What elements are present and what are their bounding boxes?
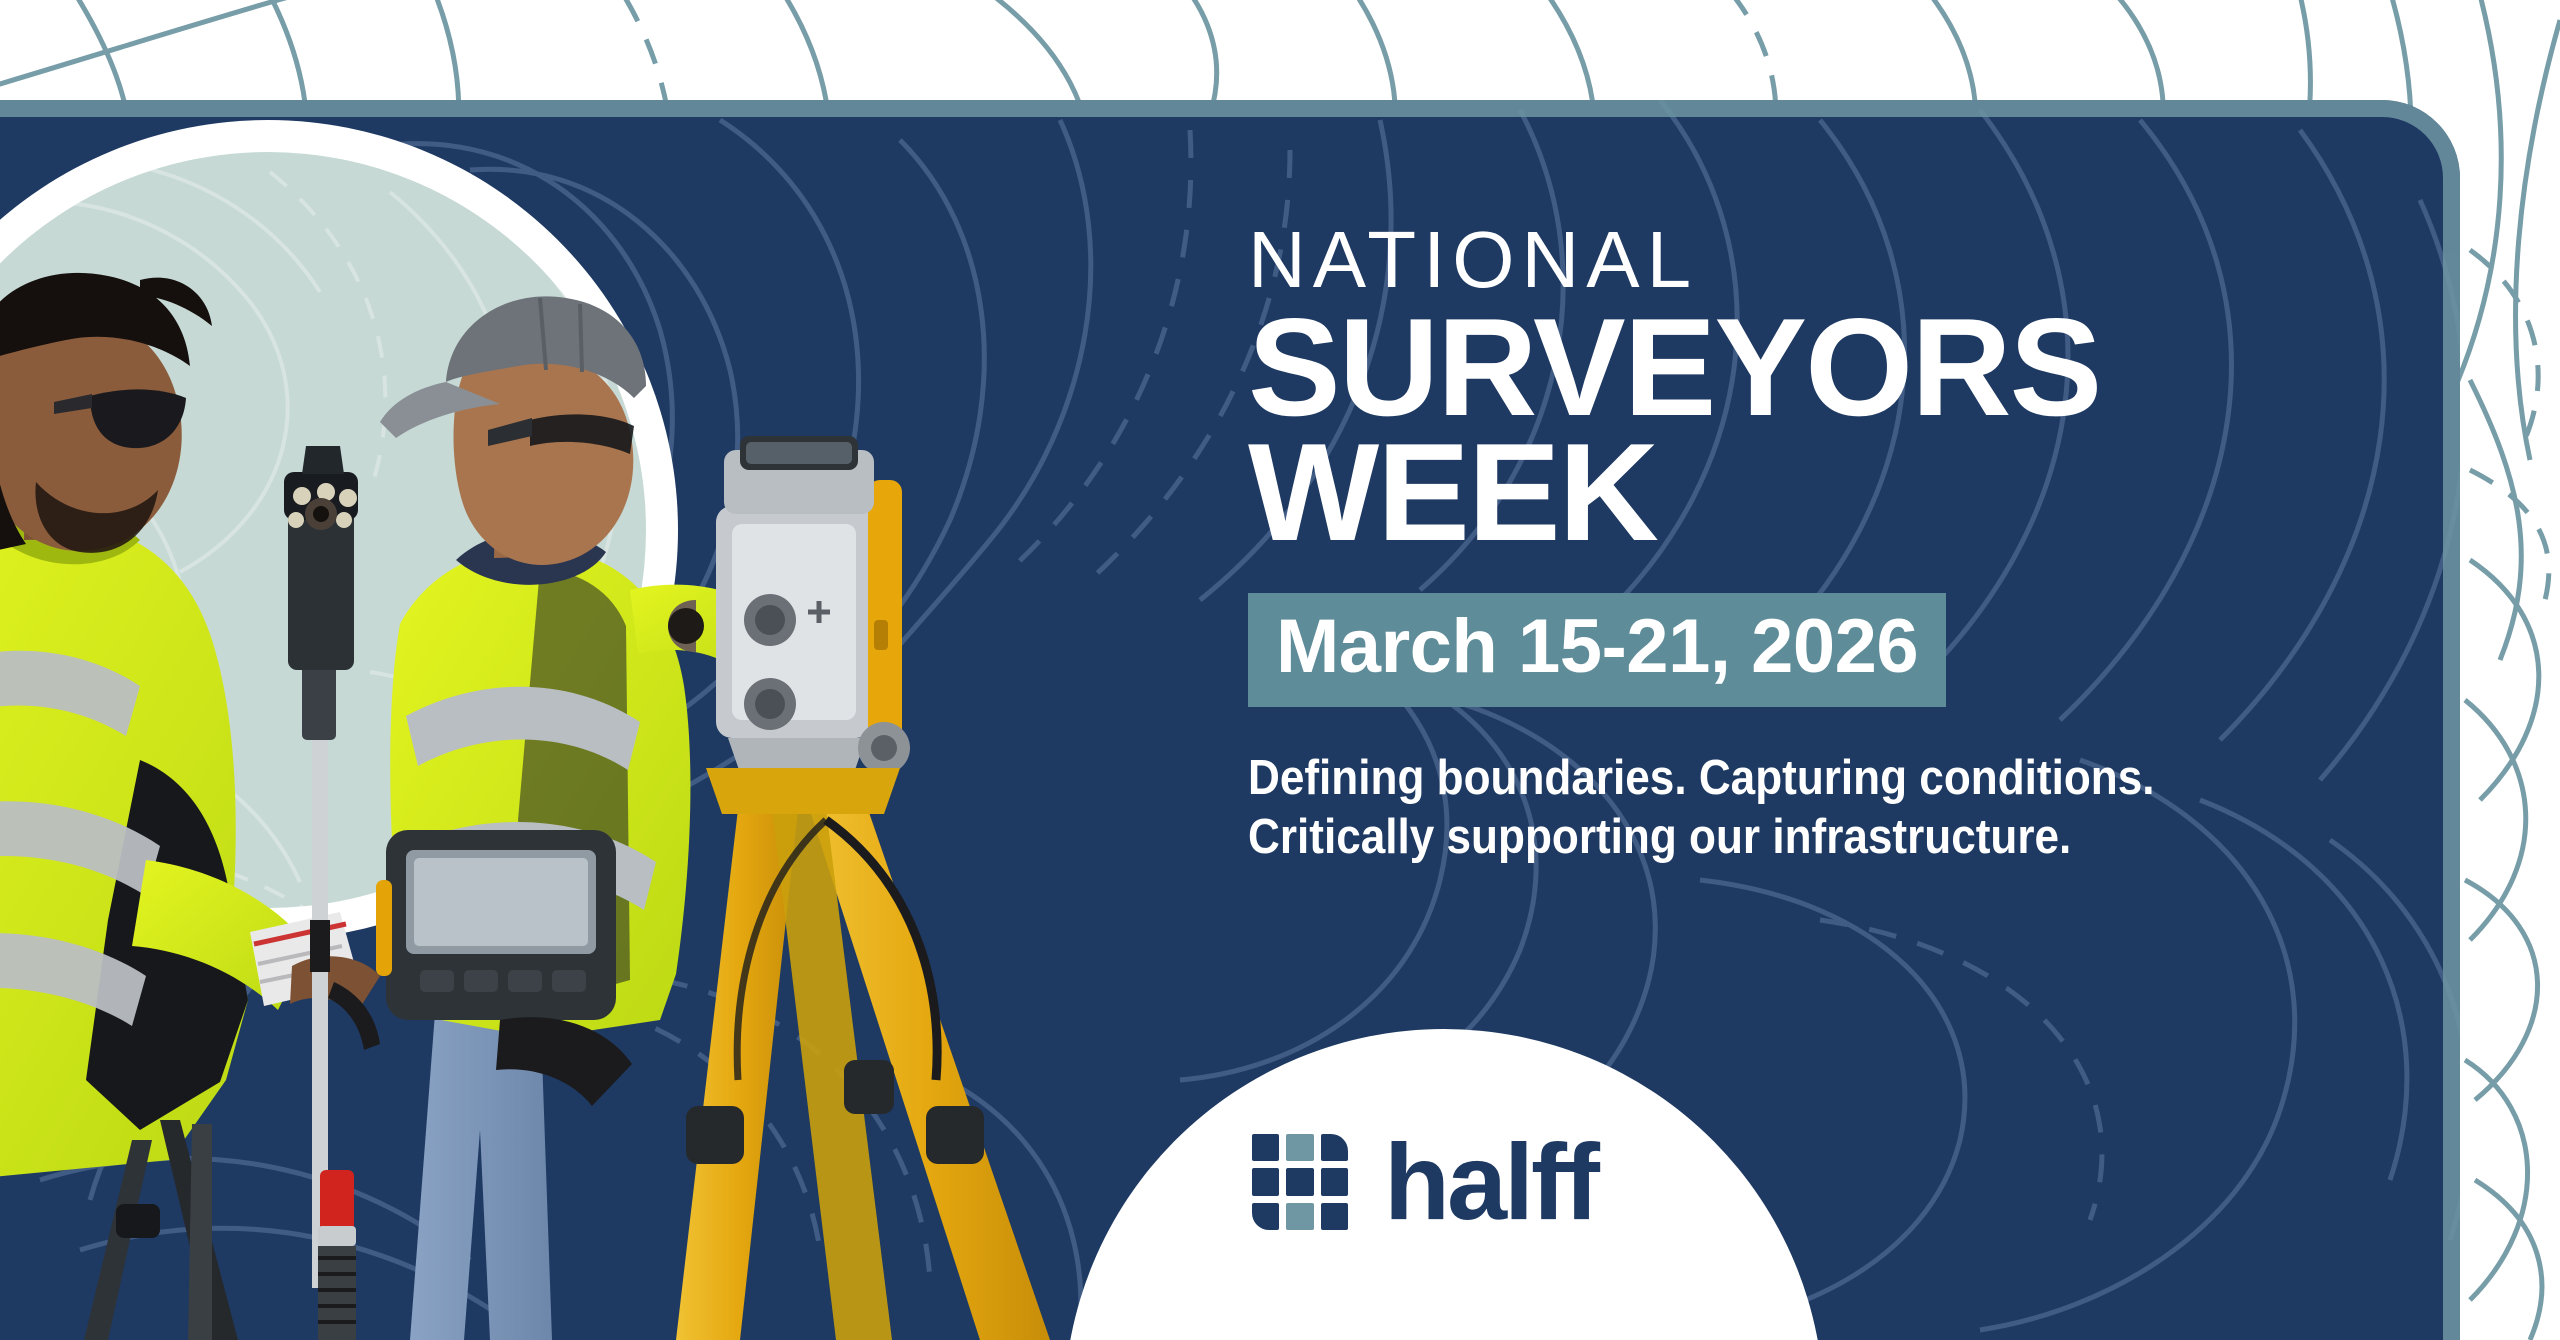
page-title: SURVEYORS WEEK — [1248, 305, 2428, 555]
date-text: March 15-21, 2026 — [1276, 609, 1918, 685]
surveyors-week-graphic: NATIONAL SURVEYORS WEEK March 15-21, 202… — [0, 0, 2560, 1340]
range-pole-red-band — [320, 1170, 354, 1234]
halff-logo[interactable]: halff — [1252, 1134, 1597, 1230]
prism-head — [288, 510, 354, 670]
instrument-yellow-trim — [868, 480, 902, 748]
yellow-tripod — [676, 768, 1050, 1340]
halff-grid-icon — [1252, 1134, 1348, 1230]
right-surveyor-head — [454, 349, 634, 565]
data-collector-tablet — [376, 830, 616, 1020]
tagline: Defining boundaries. Capturing condition… — [1248, 749, 2310, 867]
halff-wordmark: halff — [1384, 1139, 1597, 1225]
date-banner: March 15-21, 2026 — [1248, 593, 1946, 707]
surveyors-fieldwork-photo — [0, 120, 1080, 1340]
copy-block: NATIONAL SURVEYORS WEEK March 15-21, 202… — [1248, 222, 2428, 867]
kicker-national: NATIONAL — [1248, 222, 2428, 299]
